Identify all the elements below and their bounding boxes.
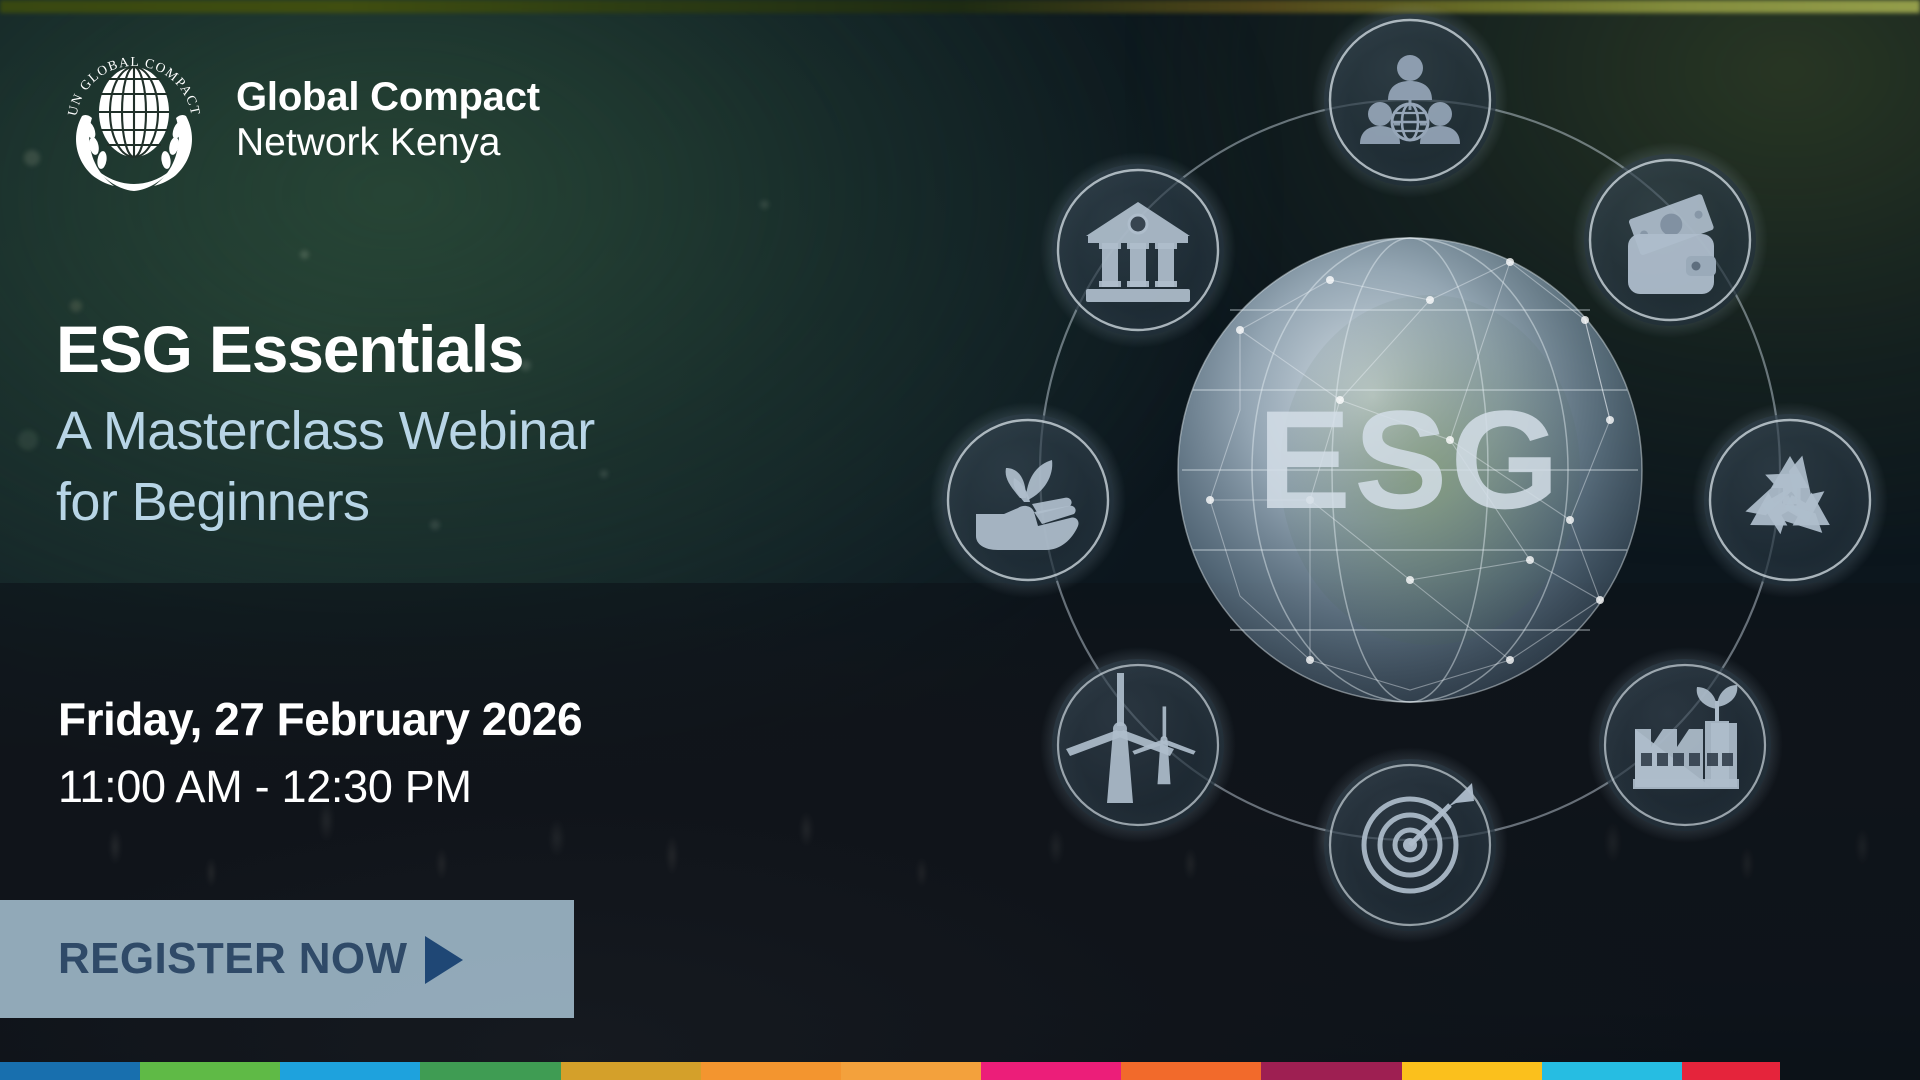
node-targets — [1312, 747, 1508, 943]
sdg-color-segment — [841, 1062, 981, 1080]
network-globe-sphere-icon: ESG — [1178, 238, 1642, 702]
schedule-block: Friday, 27 February 2026 11:00 AM - 12:3… — [58, 694, 582, 814]
sdg-color-segment — [140, 1062, 280, 1080]
sdg-color-segment — [561, 1062, 701, 1080]
left-content-column: UN GLOBAL COMPACT Global Compact Network… — [0, 0, 760, 1080]
sdg-color-segment — [0, 1062, 140, 1080]
sdg-color-segment — [1682, 1062, 1780, 1080]
node-environment-growth — [930, 402, 1126, 598]
webinar-promo-banner: UN GLOBAL COMPACT Global Compact Network… — [0, 0, 1920, 1080]
sdg-color-segment — [280, 1062, 420, 1080]
brand-name-line1: Global Compact — [236, 75, 540, 120]
sdg-color-segment — [420, 1062, 560, 1080]
esg-ecosystem-graphic: ESG — [910, 0, 1920, 1080]
node-governance-people — [1312, 2, 1508, 198]
brand-wordmark: Global Compact Network Kenya — [236, 75, 540, 165]
node-renewable-energy — [1040, 647, 1236, 843]
node-recycling — [1692, 402, 1888, 598]
register-now-label: REGISTER NOW — [58, 934, 407, 984]
page-title: ESG Essentials — [56, 315, 595, 384]
sdg-color-segment — [701, 1062, 841, 1080]
sdg-color-segment — [1261, 1062, 1401, 1080]
brand-logo: UN GLOBAL COMPACT Global Compact Network… — [54, 38, 540, 198]
sdg-color-segment — [981, 1062, 1121, 1080]
play-triangle-icon — [425, 936, 463, 984]
esg-center-label: ESG — [1258, 381, 1563, 538]
page-subtitle-line1: A Masterclass Webinar — [56, 401, 595, 461]
sdg-color-bar — [0, 1062, 1920, 1080]
node-emissions-factory — [1587, 647, 1783, 843]
node-finance-wallet — [1572, 142, 1768, 338]
event-date: Friday, 27 February 2026 — [58, 694, 582, 746]
page-subtitle: A Masterclass Webinar for Beginners — [56, 396, 595, 540]
brand-name-line2: Network Kenya — [236, 120, 540, 165]
un-global-compact-globe-laurel-icon: UN GLOBAL COMPACT — [54, 38, 214, 198]
page-subtitle-line2: for Beginners — [56, 472, 369, 532]
sdg-color-segment — [1402, 1062, 1542, 1080]
sdg-color-segment — [1121, 1062, 1261, 1080]
node-institutions — [1040, 152, 1236, 348]
sdg-color-segment — [1542, 1062, 1682, 1080]
event-time: 11:00 AM - 12:30 PM — [58, 760, 582, 814]
register-now-button[interactable]: REGISTER NOW — [0, 900, 574, 1018]
headline-block: ESG Essentials A Masterclass Webinar for… — [56, 315, 595, 539]
